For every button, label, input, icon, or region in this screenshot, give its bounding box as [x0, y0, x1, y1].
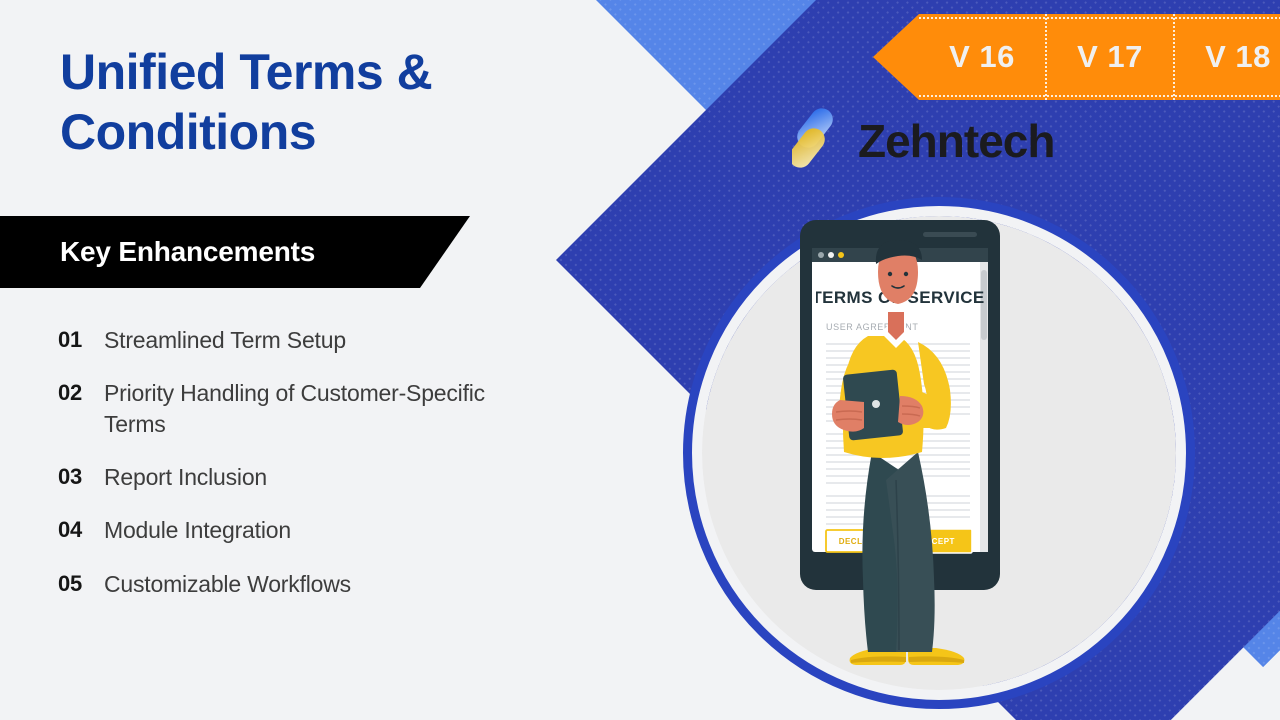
- slide-canvas: TERMS OF SERVICE USER AGREEMENT: [0, 0, 1280, 720]
- terms-illustration: TERMS OF SERVICE USER AGREEMENT: [640, 160, 1200, 720]
- version-badge-0: V 16: [919, 14, 1045, 100]
- zehntech-capsules-logo: [792, 108, 844, 175]
- list-item-number: 05: [58, 569, 104, 598]
- list-item-number: 01: [58, 325, 104, 354]
- brand-logo: Zehntech: [792, 106, 1054, 176]
- list-item: 02 Priority Handling of Customer-Specifi…: [58, 378, 558, 439]
- key-enhancements-banner: Key Enhancements: [0, 216, 470, 288]
- list-item: 04 Module Integration: [58, 515, 558, 545]
- list-item-number: 02: [58, 378, 104, 407]
- version-badge-label: V 17: [1077, 39, 1143, 75]
- feature-list: 01 Streamlined Term Setup 02 Priority Ha…: [58, 325, 558, 599]
- ribbon-dashed-border-top: [1047, 17, 1173, 19]
- version-ribbon: V 16 V 17 V 18: [873, 14, 1280, 100]
- list-item-label: Streamlined Term Setup: [104, 325, 346, 355]
- list-item-label: Report Inclusion: [104, 462, 267, 492]
- page-title: Unified Terms & Conditions: [60, 42, 620, 162]
- page-title-line-1: Unified Terms &: [60, 42, 620, 102]
- list-item: 01 Streamlined Term Setup: [58, 325, 558, 355]
- version-badge-label: V 16: [949, 39, 1015, 75]
- key-enhancements-label: Key Enhancements: [60, 236, 315, 268]
- list-item-number: 04: [58, 515, 104, 544]
- ribbon-dashed-border-bottom: [1175, 95, 1280, 97]
- brand-name: Zehntech: [858, 114, 1054, 168]
- list-item: 05 Customizable Workflows: [58, 569, 558, 599]
- list-item: 03 Report Inclusion: [58, 462, 558, 492]
- list-item-label: Priority Handling of Customer-Specific T…: [104, 378, 524, 439]
- version-badge-label: V 18: [1205, 39, 1271, 75]
- arrow-left-ribbon-icon: [873, 14, 919, 100]
- list-item-label: Customizable Workflows: [104, 569, 351, 599]
- version-badge-1: V 17: [1045, 14, 1173, 100]
- page-title-line-2: Conditions: [60, 102, 620, 162]
- ribbon-dashed-border-bottom: [919, 95, 1045, 97]
- list-item-label: Module Integration: [104, 515, 291, 545]
- ribbon-dashed-border-bottom: [1047, 95, 1173, 97]
- version-badge-2: V 18: [1173, 14, 1280, 100]
- ribbon-dashed-border-top: [919, 17, 1045, 19]
- ribbon-dashed-border-top: [1175, 17, 1280, 19]
- list-item-number: 03: [58, 462, 104, 491]
